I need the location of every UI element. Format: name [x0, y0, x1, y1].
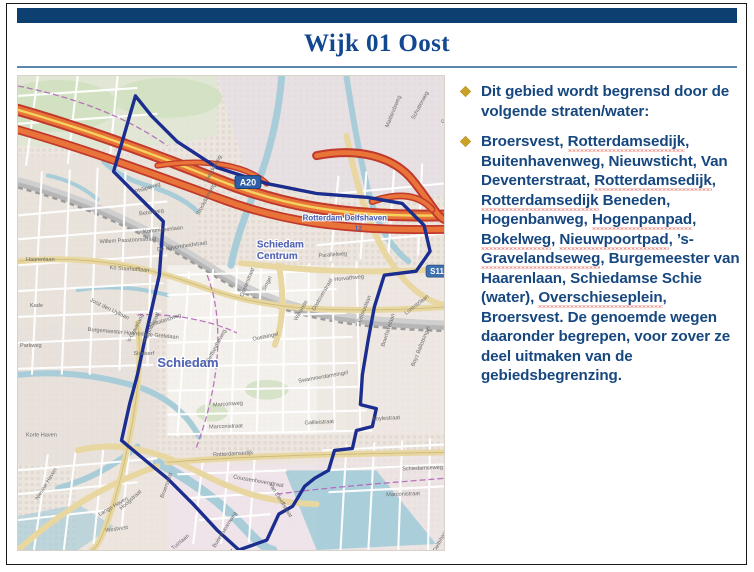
spellcheck-word: Gravelandseweg	[481, 250, 600, 269]
text-run: Dit gebied wordt begrensd door de volgen…	[481, 83, 729, 120]
street-map-svg: A20 S11 Schiedam Schiedam Schiedam Schie…	[18, 76, 444, 550]
svg-text:Haarenlaan: Haarenlaan	[26, 257, 55, 263]
svg-text:S11: S11	[430, 267, 444, 276]
spellcheck-word: Hogenpanpad	[592, 211, 692, 230]
map-image[interactable]: A20 S11 Schiedam Schiedam Schiedam Schie…	[17, 75, 445, 551]
spellcheck-word: Rotterdamsedijk	[594, 172, 712, 191]
svg-text:Marconistraat: Marconistraat	[209, 423, 243, 430]
bullet-text-2: Broersvest, Rotterdamsedijk, Buitenhaven…	[481, 132, 740, 386]
svg-text:A20: A20	[240, 178, 256, 188]
spellcheck-word: Rotterdamsedijk	[481, 192, 599, 211]
text-run: , ’s-	[669, 231, 694, 248]
svg-text:Marconistraat: Marconistraat	[386, 491, 420, 498]
diamond-bullet-icon	[455, 82, 481, 95]
svg-text:12: 12	[354, 225, 362, 232]
svg-text:Schiedam: Schiedam	[257, 239, 304, 250]
svg-text:Stadserf: Stadserf	[133, 351, 154, 357]
header-bar	[17, 8, 737, 23]
svg-text:Parkweg: Parkweg	[20, 343, 42, 349]
spellcheck-word: Rotterdamsedijk	[568, 133, 686, 152]
list-item: Dit gebied wordt begrensd door de volgen…	[455, 82, 740, 121]
svg-text:Centrum: Centrum	[257, 251, 298, 262]
description-panel: Dit gebied wordt begrensd door de volgen…	[455, 82, 740, 552]
spellcheck-word: Overschieseplein	[538, 289, 662, 308]
slide: Wijk 01 Oost	[0, 0, 754, 572]
svg-text:Korte Haven: Korte Haven	[26, 432, 57, 438]
text-run: ,	[712, 172, 716, 189]
spellcheck-word: Nieuwpoortpad	[559, 231, 668, 250]
spellcheck-word: Bokelweg	[481, 231, 551, 250]
text-run: Broersvest,	[481, 133, 568, 150]
list-item: Broersvest, Rotterdamsedijk, Buitenhaven…	[455, 132, 740, 386]
road-shield-s11: S11	[426, 265, 444, 277]
svg-text:Kade: Kade	[30, 303, 43, 309]
text-run: ,	[692, 211, 696, 228]
page-title: Wijk 01 Oost	[17, 23, 737, 65]
title-band: Wijk 01 Oost	[17, 23, 737, 68]
bullet-text-1: Dit gebied wordt begrensd door de volgen…	[481, 82, 740, 121]
svg-text:Rotterdam Delfshaven: Rotterdam Delfshaven	[303, 213, 388, 222]
diamond-bullet-icon	[455, 132, 481, 145]
road-shield-a20: A20	[235, 176, 261, 189]
